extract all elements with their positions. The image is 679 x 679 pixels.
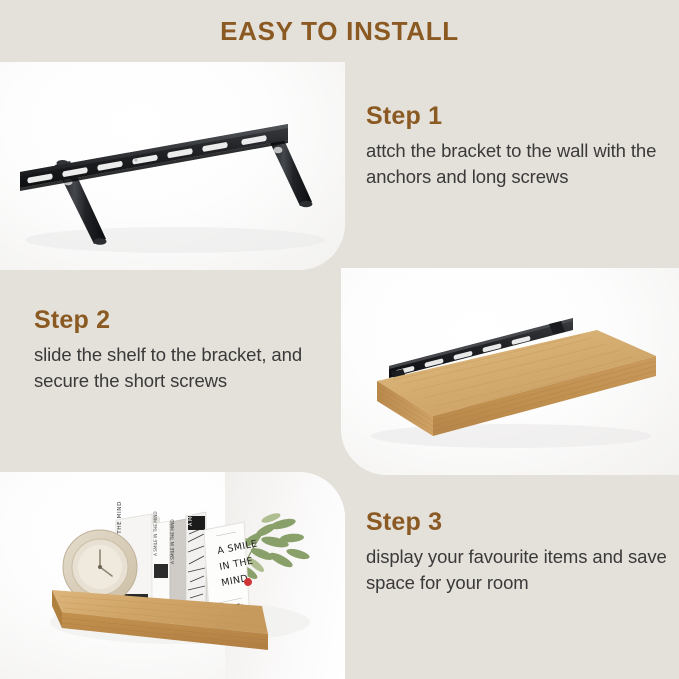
styled-shelf-svg: A SMILE IN THE MIND A SMILE IN THE MIND …	[0, 472, 345, 679]
step-2-heading: Step 2	[34, 306, 334, 335]
step-1-body: attch the bracket to the wall with the a…	[366, 138, 666, 189]
svg-text:A SMILE IN THE MIND: A SMILE IN THE MIND	[153, 511, 158, 556]
step-1-heading: Step 1	[366, 102, 666, 131]
step-2-text: Step 2 slide the shelf to the bracket, a…	[34, 306, 334, 393]
bracket-svg	[0, 62, 345, 270]
shelf-board-illustration	[341, 268, 679, 475]
step-3-body: display your favourite items and save sp…	[366, 544, 671, 595]
shelf-svg	[341, 268, 679, 475]
infographic-page: EASY TO INSTALL	[0, 0, 679, 679]
step-3-heading: Step 3	[366, 508, 671, 537]
bracket-main-bar	[20, 124, 288, 191]
step-2-body: slide the shelf to the bracket, and secu…	[34, 342, 334, 393]
svg-text:A MO: A MO	[188, 513, 194, 526]
step-2-image-panel	[341, 268, 679, 475]
step-1-text: Step 1 attch the bracket to the wall wit…	[366, 102, 666, 189]
svg-text:A SMILE IN THE MIND: A SMILE IN THE MIND	[170, 519, 175, 564]
step-3-image-panel: A SMILE IN THE MIND A SMILE IN THE MIND …	[0, 472, 345, 679]
page-title: EASY TO INSTALL	[220, 16, 459, 47]
wall-bracket-illustration	[0, 62, 345, 270]
step-3-text: Step 3 display your favourite items and …	[366, 508, 671, 595]
step-1-image-panel	[0, 62, 345, 270]
wood-board	[377, 330, 656, 436]
styled-shelf-illustration: A SMILE IN THE MIND A SMILE IN THE MIND …	[0, 472, 345, 679]
page-title-bar: EASY TO INSTALL	[0, 0, 679, 62]
